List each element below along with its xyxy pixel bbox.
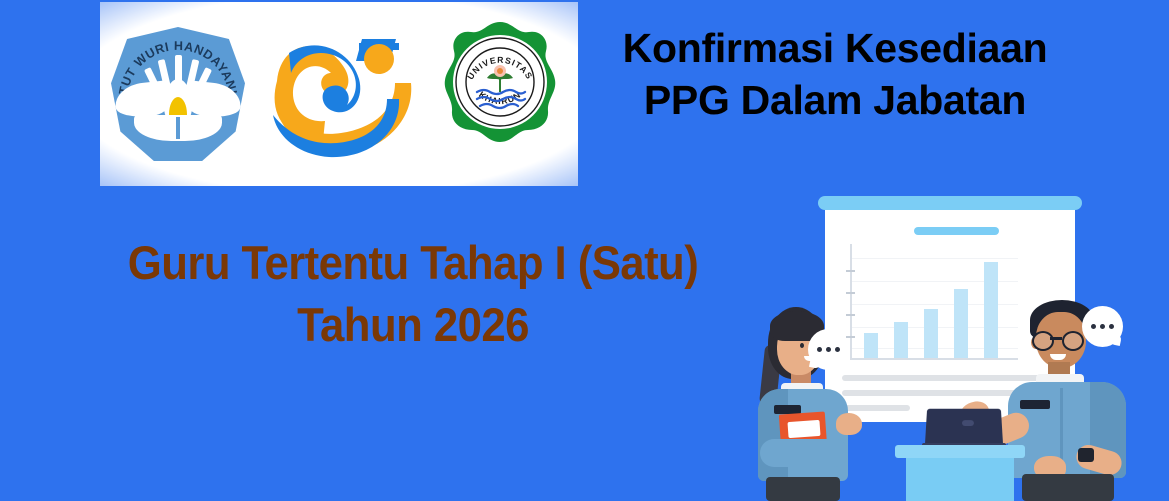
book-spine-shape bbox=[176, 117, 180, 139]
lens-right-shape bbox=[1062, 331, 1084, 351]
podium-top-shape bbox=[895, 445, 1025, 458]
podium bbox=[895, 445, 1025, 501]
page-title: Konfirmasi Kesediaan PPG Dalam Jabatan bbox=[575, 22, 1095, 126]
name-tag-shape bbox=[1020, 400, 1050, 409]
presentation-illustration bbox=[700, 180, 1169, 501]
chart-y-tick bbox=[846, 292, 855, 294]
chart-bar bbox=[954, 289, 968, 358]
banner-root: TUT WURI HANDAYANI bbox=[0, 0, 1169, 501]
skirt-shape bbox=[766, 477, 840, 501]
chart-bar bbox=[984, 262, 998, 358]
laptop-logo-shape bbox=[962, 420, 974, 426]
glasses-bridge-shape bbox=[1050, 337, 1062, 340]
chart-bar bbox=[894, 322, 908, 358]
dot bbox=[1109, 324, 1114, 329]
board-top-bar bbox=[818, 196, 1082, 210]
dot bbox=[826, 347, 831, 352]
laptop-screen-shape bbox=[925, 409, 1003, 447]
pants-shape bbox=[1022, 474, 1114, 501]
chart-x-axis bbox=[850, 358, 1018, 360]
subtitle-line-1: Guru Tertentu Tahap I (Satu) bbox=[46, 232, 781, 294]
speech-bubble-left-icon bbox=[808, 329, 849, 370]
glasses-icon bbox=[1032, 331, 1090, 347]
dot bbox=[1091, 324, 1096, 329]
ppg-logo-icon bbox=[259, 17, 419, 172]
laptop-icon bbox=[922, 408, 1006, 450]
page-subtitle: Guru Tertentu Tahap I (Satu) Tahun 2026 bbox=[18, 232, 808, 356]
dot bbox=[1100, 324, 1105, 329]
lens-left-shape bbox=[1032, 331, 1054, 351]
hand-shape bbox=[836, 413, 862, 435]
chart-y-tick bbox=[846, 270, 855, 272]
watch-icon bbox=[1078, 448, 1094, 462]
speech-bubble-right-icon bbox=[1082, 306, 1123, 347]
board-bar-chart bbox=[850, 244, 1018, 360]
kemdikbud-logo-icon: TUT WURI HANDAYANI bbox=[103, 19, 253, 169]
chart-bar bbox=[924, 309, 938, 358]
eye-left-shape bbox=[800, 343, 804, 348]
logo-panel: TUT WURI HANDAYANI bbox=[100, 2, 578, 186]
book-label-shape bbox=[787, 420, 820, 438]
title-line-1: Konfirmasi Kesediaan bbox=[575, 22, 1095, 74]
board-title-placeholder bbox=[914, 227, 999, 235]
subtitle-line-2: Tahun 2026 bbox=[46, 294, 781, 356]
chart-bars bbox=[864, 246, 1014, 358]
unkhair-logo-icon: UNIVERSITAS KHAIRUN bbox=[425, 20, 575, 168]
arm-shape bbox=[760, 439, 848, 467]
chart-bar bbox=[864, 333, 878, 358]
title-line-2: PPG Dalam Jabatan bbox=[575, 74, 1095, 126]
podium-body-shape bbox=[906, 457, 1014, 501]
dot bbox=[835, 347, 840, 352]
dot bbox=[817, 347, 822, 352]
